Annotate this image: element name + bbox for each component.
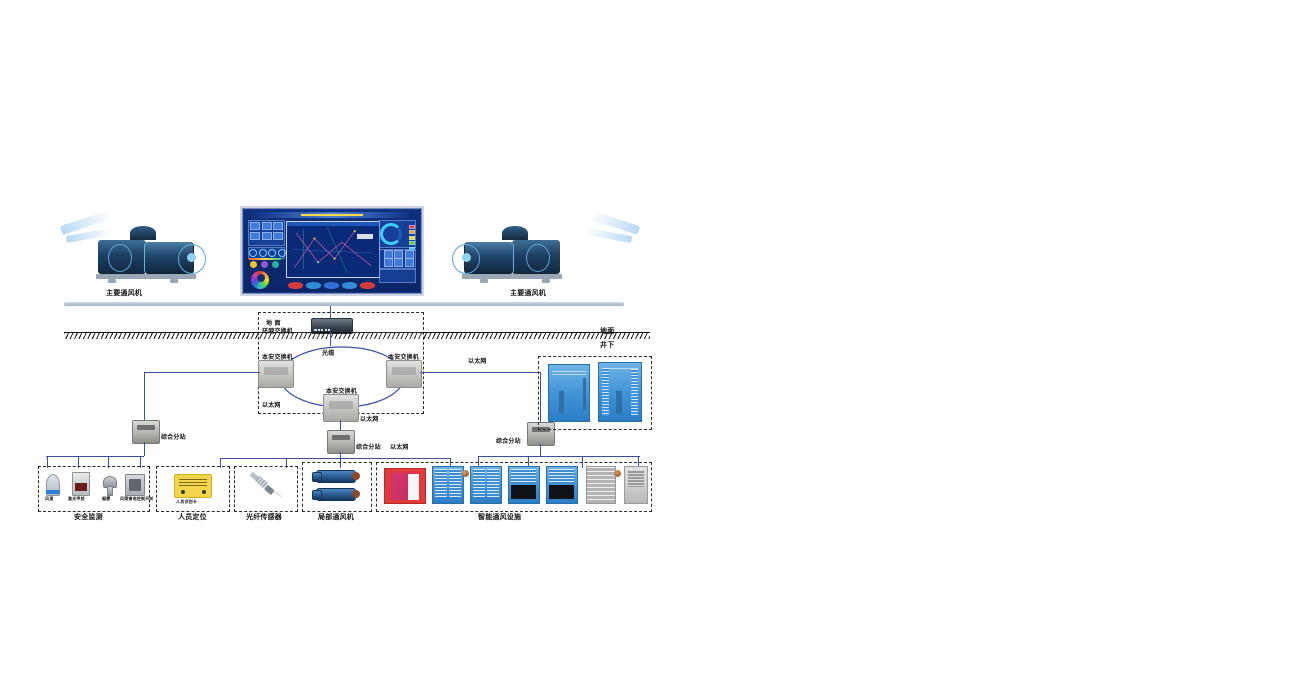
smoke-sensor-stem xyxy=(107,486,113,496)
map-lines-svg xyxy=(287,222,379,277)
fan-left-label: 主要通风机 xyxy=(106,288,142,298)
power-control-switch-icon[interactable] xyxy=(125,474,145,496)
fiber-sensor-icon[interactable] xyxy=(248,472,284,502)
router-ports xyxy=(314,329,330,331)
air-regulator-red-icon[interactable] xyxy=(384,468,426,504)
monitor-network-map[interactable] xyxy=(286,221,380,277)
monitor-title-bar xyxy=(255,212,410,218)
pulley-ball-icon-1 xyxy=(462,470,469,477)
item-label-smoke: 烟雾 xyxy=(102,496,110,502)
link-right-switch-h xyxy=(420,372,540,373)
fan-hub xyxy=(462,253,471,262)
fan-cowl xyxy=(130,226,156,240)
link-left-switch-v xyxy=(144,372,145,420)
link-subright-down xyxy=(540,444,541,456)
monitor-status-dots xyxy=(250,261,279,268)
monitor-button-4[interactable] xyxy=(342,282,357,289)
group-caption-local-fan: 局部通风机 xyxy=(318,512,354,522)
intrinsically-safe-switch-right[interactable] xyxy=(386,360,422,388)
bus-left xyxy=(46,456,144,457)
fan-foot-2 xyxy=(170,279,178,283)
fan-foot-1 xyxy=(542,279,550,283)
group-caption-intelligent-ventilation: 智能通风设施 xyxy=(478,512,521,522)
fan-cowl xyxy=(502,226,528,240)
air-door-blue-icon-4[interactable] xyxy=(546,466,578,504)
monitor-right-tiles-2 xyxy=(384,258,414,267)
air-louvre-grey-icon-2[interactable] xyxy=(624,466,648,504)
substation-right-label: 综合分站 xyxy=(496,436,521,445)
ethernet-label-left: 以太网 xyxy=(262,400,281,409)
air-door-blue-icon-1[interactable] xyxy=(432,466,464,504)
item-label-anemometer: 风速 xyxy=(45,496,53,502)
underground-air-door-1[interactable] xyxy=(548,364,590,422)
intrinsically-safe-switch-bottom[interactable] xyxy=(323,394,359,422)
link-left-switch-h xyxy=(144,372,260,373)
monitor-button-1[interactable] xyxy=(288,282,303,289)
substation-left[interactable] xyxy=(132,420,160,444)
underground-label: 井下 xyxy=(600,340,614,350)
air-louvre-grey-icon-1[interactable] xyxy=(586,466,616,504)
map-tooltip xyxy=(357,234,373,239)
intrinsically-safe-switch-left[interactable] xyxy=(258,360,294,388)
surface-platform-bar xyxy=(64,302,624,306)
monitor-right-chart xyxy=(379,269,416,282)
ground-surface-line-right xyxy=(422,332,650,339)
bus-center xyxy=(220,458,450,459)
fan-foot-1 xyxy=(108,279,116,283)
id-card-icon[interactable] xyxy=(174,474,212,498)
monitor-legend xyxy=(409,225,415,251)
anemometer-icon[interactable] xyxy=(46,474,60,496)
substation-left-label: 综合分站 xyxy=(161,432,186,441)
ground-surface-line-mid xyxy=(258,332,422,339)
air-door-blue-icon-2[interactable] xyxy=(470,466,502,504)
group-caption-safety-monitoring: 安全监测 xyxy=(74,512,103,522)
group-caption-personnel-positioning: 人员定位 xyxy=(178,512,207,522)
link-center-switch-v xyxy=(340,420,341,430)
control-monitor[interactable] xyxy=(240,206,424,296)
monitor-left-tiles xyxy=(250,222,283,230)
local-fan-icon-2[interactable] xyxy=(312,486,360,502)
monitor-button-2[interactable] xyxy=(306,282,321,289)
monitor-button-5[interactable] xyxy=(360,282,375,289)
fan-ring-2 xyxy=(108,244,132,272)
local-fan-icon-1[interactable] xyxy=(312,468,360,484)
substation-center-label: 综合分站 xyxy=(356,442,381,451)
underground-air-door-2[interactable] xyxy=(598,362,642,422)
monitor-button-3[interactable] xyxy=(324,282,339,289)
main-fan-left xyxy=(92,226,200,286)
group-caption-fiber-sensor: 光纤传感器 xyxy=(246,512,282,522)
ventilation-topology-diagram: 主要通风机 主要通风机 地 面 环网交换机 xyxy=(30,200,670,540)
fan-ring-2 xyxy=(526,244,550,272)
monitor-left-tiles-2 xyxy=(250,232,283,240)
monitor-color-wheel-core xyxy=(257,274,265,282)
methane-sensor-icon[interactable] xyxy=(72,472,90,496)
fan-hub xyxy=(187,253,196,262)
screenshot-canvas: 主要通风机 主要通风机 地 面 环网交换机 xyxy=(0,0,1300,700)
air-door-blue-icon-3[interactable] xyxy=(508,466,540,504)
fan-right-label: 主要通风机 xyxy=(510,288,546,298)
item-label-methane: 激光甲烷 xyxy=(68,496,85,502)
ethernet-label-bottom: 以太网 xyxy=(390,442,409,451)
ground-surface-line-left xyxy=(64,332,258,339)
ethernet-label-center: 以太网 xyxy=(360,414,379,423)
item-label-power-switch: 风筒馈电控制开关 xyxy=(120,496,154,502)
ground-label: 地面 xyxy=(600,326,614,336)
ethernet-label-right: 以太网 xyxy=(468,356,487,365)
link-subleft-down xyxy=(144,442,145,456)
item-label-id-card: 人员识别卡 xyxy=(176,499,197,505)
monitor-bottom-buttons[interactable] xyxy=(288,282,375,289)
monitor-screen xyxy=(244,210,420,292)
substation-center[interactable] xyxy=(327,430,355,454)
pulley-ball-icon-2 xyxy=(614,470,621,477)
monitor-progress-bar xyxy=(249,258,281,260)
fan-foot-2 xyxy=(480,279,488,283)
bus-right xyxy=(478,456,640,457)
main-fan-right xyxy=(458,226,566,286)
